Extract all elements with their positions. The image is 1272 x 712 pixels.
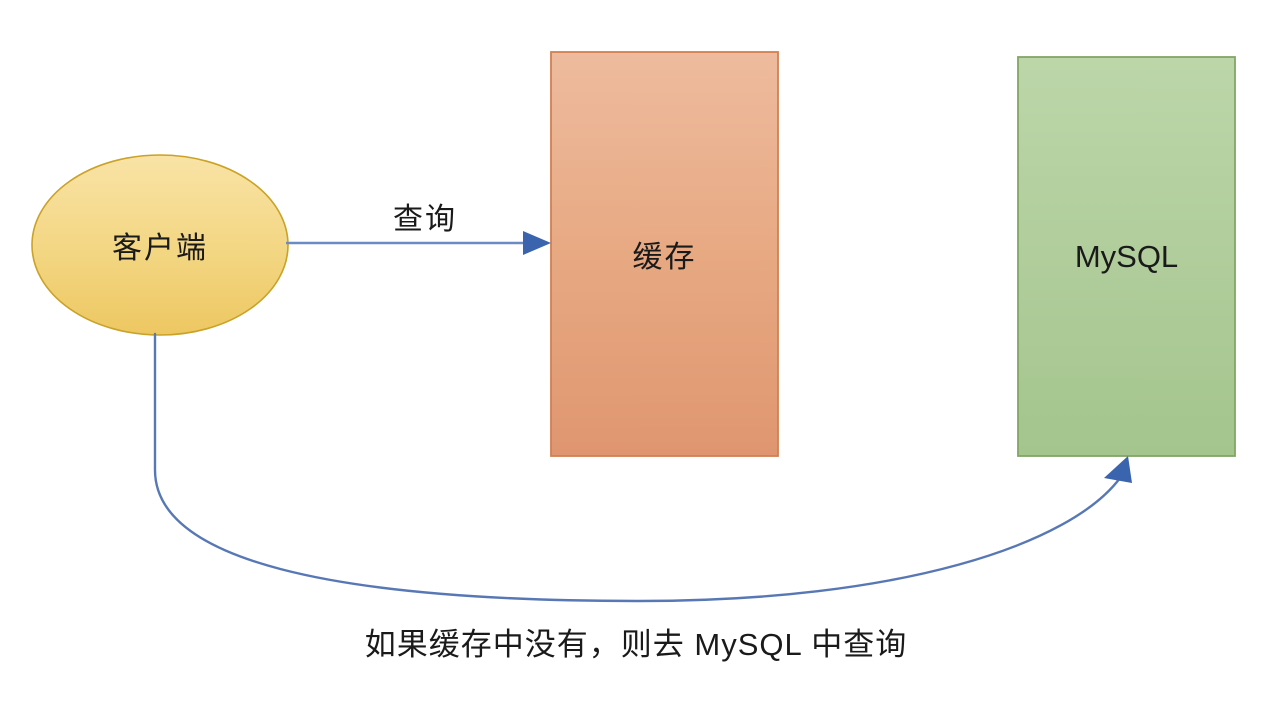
- edge-client-to-mysql-arrowhead: [1104, 456, 1132, 483]
- diagram-svg: [0, 0, 1272, 712]
- edge-client-to-cache-arrowhead: [523, 231, 551, 255]
- diagram-canvas: 客户端 缓存 MySQL 查询 如果缓存中没有，则去 MySQL 中查询: [0, 0, 1272, 712]
- node-mysql-shape[interactable]: [1018, 57, 1235, 456]
- node-client-shape[interactable]: [32, 155, 288, 335]
- node-cache-shape[interactable]: [551, 52, 778, 456]
